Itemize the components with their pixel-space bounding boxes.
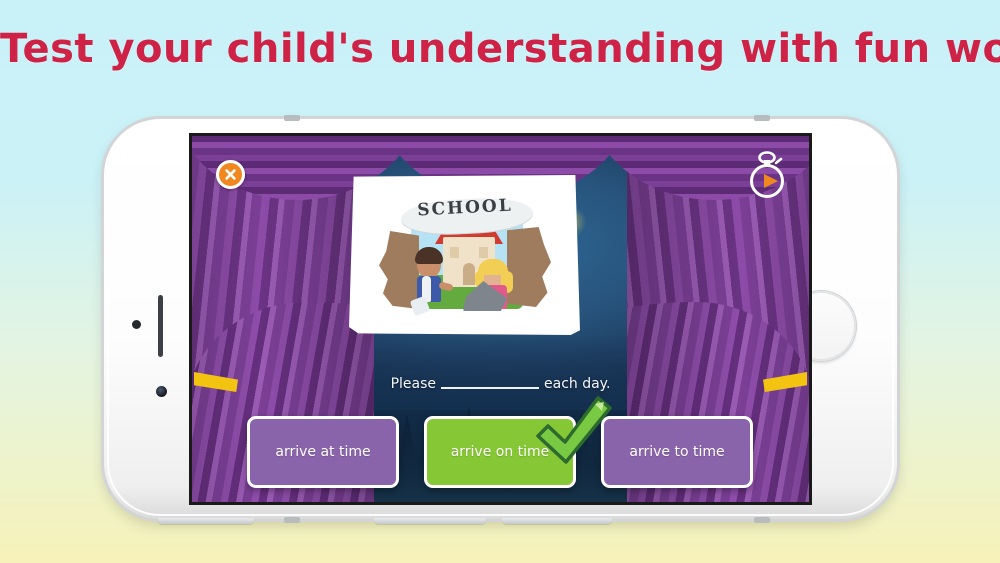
timer-button[interactable] bbox=[745, 150, 789, 200]
question-sentence: Pleaseeach day. bbox=[192, 376, 809, 392]
frame-antenna-line-bottom-right bbox=[754, 517, 770, 523]
volume-up-button[interactable] bbox=[374, 518, 486, 524]
school-illustration: SCHOOL bbox=[371, 191, 559, 321]
check-mark-icon bbox=[532, 392, 614, 470]
frame-antenna-line-bottom-left bbox=[284, 517, 300, 523]
close-button[interactable] bbox=[216, 160, 245, 189]
answer-blank bbox=[441, 387, 539, 389]
answer-options: arrive at time arrive on time arrive to … bbox=[192, 408, 809, 492]
school-window bbox=[479, 247, 488, 258]
phone-frame: ✠ ✠ ✠ ✠ ✠ bbox=[104, 119, 897, 519]
answer-option-1[interactable]: arrive at time bbox=[247, 416, 399, 488]
answer-option-3[interactable]: arrive to time bbox=[601, 416, 753, 488]
child-boy bbox=[409, 243, 451, 313]
child-girl bbox=[467, 259, 519, 317]
frame-antenna-line-top-left bbox=[284, 115, 300, 121]
close-icon bbox=[224, 168, 237, 181]
mute-switch[interactable] bbox=[158, 518, 254, 524]
stopwatch-icon bbox=[745, 150, 789, 200]
frame-antenna-line-top-right bbox=[754, 115, 770, 121]
question-suffix: each day. bbox=[544, 376, 610, 392]
page-title: Test your child's understanding with fun… bbox=[0, 26, 1000, 72]
volume-down-button[interactable] bbox=[502, 518, 612, 524]
question-image-card: SCHOOL bbox=[349, 175, 580, 335]
proximity-sensor-icon bbox=[132, 320, 141, 329]
app-screen: ✠ ✠ ✠ ✠ ✠ bbox=[192, 136, 809, 502]
front-camera-icon bbox=[156, 386, 167, 397]
school-window bbox=[450, 247, 459, 258]
question-prefix: Please bbox=[391, 376, 436, 392]
earpiece-speaker bbox=[158, 295, 163, 357]
